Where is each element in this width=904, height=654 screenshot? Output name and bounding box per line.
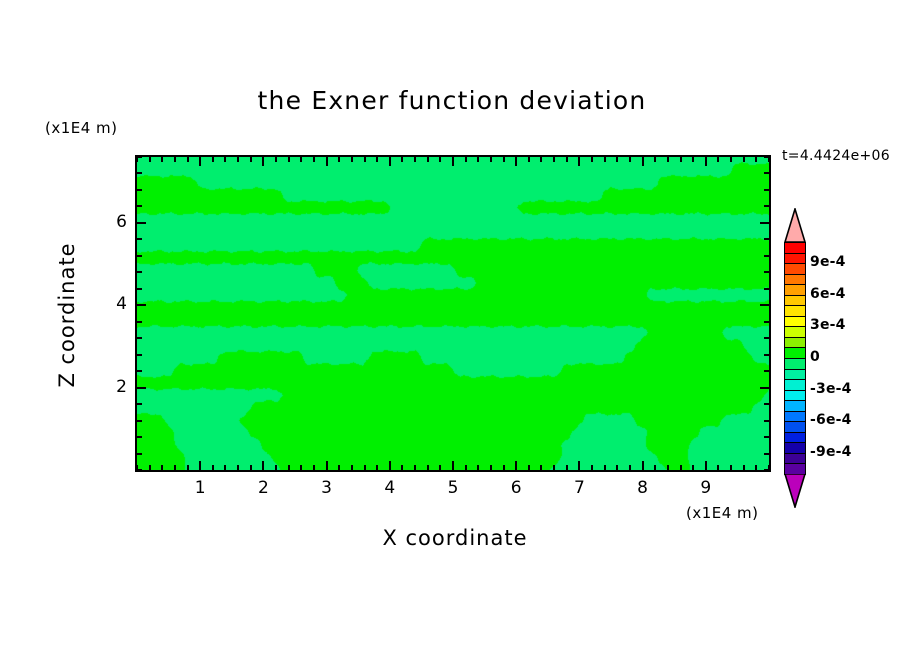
y-axis-minor-tick — [137, 255, 142, 257]
x-axis-minor-tick — [477, 465, 479, 470]
x-axis-tick-label: 1 — [185, 478, 215, 498]
contour-field-canvas — [137, 157, 769, 470]
x-axis-minor-tick — [300, 465, 302, 470]
x-axis-minor-tick-top — [503, 157, 505, 162]
y-axis-minor-tick-right — [764, 205, 769, 207]
y-axis-minor-tick — [137, 271, 142, 273]
x-axis-minor-tick — [654, 465, 656, 470]
y-axis-minor-tick — [137, 403, 142, 405]
x-axis-minor-tick-top — [591, 157, 593, 162]
x-axis-minor-tick-top — [730, 157, 732, 162]
x-axis-minor-tick-top — [414, 157, 416, 162]
y-axis-minor-tick — [137, 205, 142, 207]
x-axis-minor-tick-top — [149, 157, 151, 162]
x-axis-minor-tick-top — [313, 157, 315, 162]
x-axis-minor-tick-top — [604, 157, 606, 162]
x-axis-tick-label: 4 — [375, 478, 405, 498]
x-axis-minor-tick-top — [465, 157, 467, 162]
x-axis-tick-label: 8 — [628, 478, 658, 498]
x-axis-minor-tick-top — [717, 157, 719, 162]
x-axis-minor-tick-top — [743, 157, 745, 162]
x-axis-minor-tick-top — [288, 157, 290, 162]
x-axis-minor-tick — [540, 465, 542, 470]
y-axis-tick-label: 6 — [97, 212, 127, 232]
colorbar-tick-label: 6e-4 — [810, 286, 846, 302]
x-axis-major-tick — [515, 461, 517, 470]
x-axis-minor-tick-top — [755, 157, 757, 162]
x-axis-minor-tick-top — [654, 157, 656, 162]
x-axis-minor-tick-top — [376, 157, 378, 162]
x-axis-minor-tick-top — [237, 157, 239, 162]
x-axis-major-tick-top — [326, 157, 328, 166]
x-axis-minor-tick — [224, 465, 226, 470]
y-axis-minor-tick-right — [764, 420, 769, 422]
x-axis-minor-tick-top — [427, 157, 429, 162]
x-axis-minor-tick — [174, 465, 176, 470]
x-axis-major-tick-top — [642, 157, 644, 166]
x-axis-minor-tick-top — [667, 157, 669, 162]
x-axis-tick-label: 6 — [501, 478, 531, 498]
x-axis-minor-tick — [414, 465, 416, 470]
y-axis-minor-tick-right — [764, 255, 769, 257]
x-axis-minor-tick-top — [300, 157, 302, 162]
x-axis-minor-tick-top — [490, 157, 492, 162]
y-axis-minor-tick-right — [764, 238, 769, 240]
y-axis-minor-tick — [137, 354, 142, 356]
x-axis-minor-tick-top — [692, 157, 694, 162]
y-axis-tick-label: 2 — [97, 377, 127, 397]
y-axis-minor-tick — [137, 453, 142, 455]
x-axis-minor-tick — [212, 465, 214, 470]
y-axis-minor-tick-right — [764, 271, 769, 273]
y-axis-minor-tick-right — [764, 403, 769, 405]
x-axis-major-tick — [452, 461, 454, 470]
y-axis-minor-tick-right — [764, 370, 769, 372]
x-axis-minor-tick — [364, 465, 366, 470]
y-axis-title: Z coordinate — [55, 215, 79, 415]
x-axis-minor-tick-top — [439, 157, 441, 162]
y-axis-minor-tick-right — [764, 453, 769, 455]
x-axis-major-tick — [578, 461, 580, 470]
x-axis-major-tick-top — [515, 157, 517, 166]
y-axis-minor-tick — [137, 436, 142, 438]
x-axis-minor-tick — [376, 465, 378, 470]
x-axis-minor-tick-top — [212, 157, 214, 162]
y-axis-minor-tick-right — [764, 189, 769, 191]
x-axis-title: X coordinate — [285, 526, 625, 550]
y-axis-major-tick — [137, 304, 146, 306]
y-axis-major-tick-right — [760, 304, 769, 306]
x-axis-tick-label: 5 — [438, 478, 468, 498]
x-axis-minor-tick — [692, 465, 694, 470]
x-axis-minor-tick-top — [401, 157, 403, 162]
x-axis-minor-tick-top — [187, 157, 189, 162]
y-axis-minor-tick — [137, 370, 142, 372]
y-axis-minor-tick-right — [764, 288, 769, 290]
x-axis-major-tick — [705, 461, 707, 470]
x-axis-minor-tick — [717, 465, 719, 470]
y-axis-major-tick-right — [760, 222, 769, 224]
colorbar-under-range-arrow — [784, 474, 806, 508]
x-axis-major-tick — [389, 461, 391, 470]
x-axis-minor-tick — [503, 465, 505, 470]
colorbar: 9e-46e-43e-40-3e-4-6e-4-9e-4 — [784, 208, 806, 508]
x-axis-minor-tick — [667, 465, 669, 470]
x-axis-major-tick-top — [578, 157, 580, 166]
x-axis-minor-tick-top — [275, 157, 277, 162]
time-annotation: t=4.4424e+06 — [782, 148, 890, 164]
y-axis-minor-tick-right — [764, 337, 769, 339]
x-axis-minor-tick — [439, 465, 441, 470]
x-axis-minor-tick — [553, 465, 555, 470]
x-axis-major-tick-top — [705, 157, 707, 166]
x-axis-minor-tick-top — [629, 157, 631, 162]
x-axis-minor-tick-top — [680, 157, 682, 162]
y-axis-minor-tick — [137, 189, 142, 191]
colorbar-tick-label: -3e-4 — [810, 381, 852, 397]
x-axis-tick-label: 7 — [564, 478, 594, 498]
contour-plot-area — [135, 155, 771, 472]
x-axis-minor-tick-top — [528, 157, 530, 162]
y-axis-minor-tick — [137, 156, 142, 158]
x-axis-minor-tick — [490, 465, 492, 470]
x-axis-minor-tick — [604, 465, 606, 470]
x-axis-minor-tick — [743, 465, 745, 470]
x-axis-minor-tick — [591, 465, 593, 470]
x-axis-minor-tick — [351, 465, 353, 470]
x-axis-tick-label: 9 — [691, 478, 721, 498]
x-axis-minor-tick — [288, 465, 290, 470]
y-axis-minor-tick — [137, 238, 142, 240]
y-axis-minor-tick — [137, 321, 142, 323]
x-axis-minor-tick-top — [616, 157, 618, 162]
x-axis-major-tick — [326, 461, 328, 470]
x-axis-minor-tick — [250, 465, 252, 470]
y-axis-minor-tick-right — [764, 172, 769, 174]
x-axis-minor-tick — [427, 465, 429, 470]
x-axis-minor-tick — [629, 465, 631, 470]
x-axis-minor-tick — [465, 465, 467, 470]
x-axis-minor-tick — [313, 465, 315, 470]
x-axis-minor-tick-top — [477, 157, 479, 162]
y-axis-minor-tick — [137, 172, 142, 174]
x-axis-minor-tick — [528, 465, 530, 470]
x-axis-minor-tick — [401, 465, 403, 470]
y-axis-minor-tick-right — [764, 321, 769, 323]
x-axis-minor-tick-top — [540, 157, 542, 162]
page-title: the Exner function deviation — [0, 86, 904, 115]
y-axis-minor-tick — [137, 337, 142, 339]
x-axis-minor-tick-top — [174, 157, 176, 162]
x-axis-minor-tick — [149, 465, 151, 470]
x-axis-minor-tick — [161, 465, 163, 470]
x-axis-major-tick-top — [199, 157, 201, 166]
x-axis-minor-tick-top — [161, 157, 163, 162]
x-axis-tick-label: 2 — [248, 478, 278, 498]
y-axis-major-tick — [137, 387, 146, 389]
x-axis-major-tick — [262, 461, 264, 470]
x-axis-minor-tick — [338, 465, 340, 470]
y-axis-minor-tick-right — [764, 156, 769, 158]
y-axis-minor-tick-right — [764, 354, 769, 356]
x-axis-unit-label: (x1E4 m) — [686, 504, 759, 522]
y-axis-minor-tick-right — [764, 436, 769, 438]
x-axis-minor-tick — [237, 465, 239, 470]
colorbar-tick-label: -9e-4 — [810, 444, 852, 460]
x-axis-minor-tick — [755, 465, 757, 470]
x-axis-minor-tick — [187, 465, 189, 470]
x-axis-minor-tick-top — [364, 157, 366, 162]
y-axis-minor-tick — [137, 420, 142, 422]
x-axis-major-tick — [199, 461, 201, 470]
colorbar-tick-label: 9e-4 — [810, 254, 846, 270]
x-axis-minor-tick-top — [224, 157, 226, 162]
x-axis-minor-tick-top — [338, 157, 340, 162]
y-axis-major-tick-right — [760, 387, 769, 389]
x-axis-minor-tick — [680, 465, 682, 470]
x-axis-minor-tick-top — [553, 157, 555, 162]
colorbar-tick-label: 0 — [810, 349, 820, 365]
y-axis-minor-tick-right — [764, 469, 769, 471]
x-axis-minor-tick — [275, 465, 277, 470]
figure-root: the Exner function deviation (x1E4 m) (x… — [0, 0, 904, 654]
colorbar-over-range-arrow — [784, 208, 806, 242]
x-axis-minor-tick-top — [351, 157, 353, 162]
y-axis-minor-tick — [137, 469, 142, 471]
x-axis-minor-tick-top — [250, 157, 252, 162]
x-axis-tick-label: 3 — [312, 478, 342, 498]
y-axis-minor-tick — [137, 288, 142, 290]
colorbar-tick-label: 3e-4 — [810, 317, 846, 333]
x-axis-major-tick-top — [389, 157, 391, 166]
x-axis-minor-tick-top — [566, 157, 568, 162]
x-axis-major-tick-top — [262, 157, 264, 166]
x-axis-minor-tick — [730, 465, 732, 470]
y-axis-unit-label: (x1E4 m) — [45, 119, 118, 137]
colorbar-tick-label: -6e-4 — [810, 412, 852, 428]
y-axis-tick-label: 4 — [97, 294, 127, 314]
x-axis-minor-tick — [616, 465, 618, 470]
x-axis-major-tick — [642, 461, 644, 470]
x-axis-minor-tick — [566, 465, 568, 470]
x-axis-major-tick-top — [452, 157, 454, 166]
y-axis-major-tick — [137, 222, 146, 224]
